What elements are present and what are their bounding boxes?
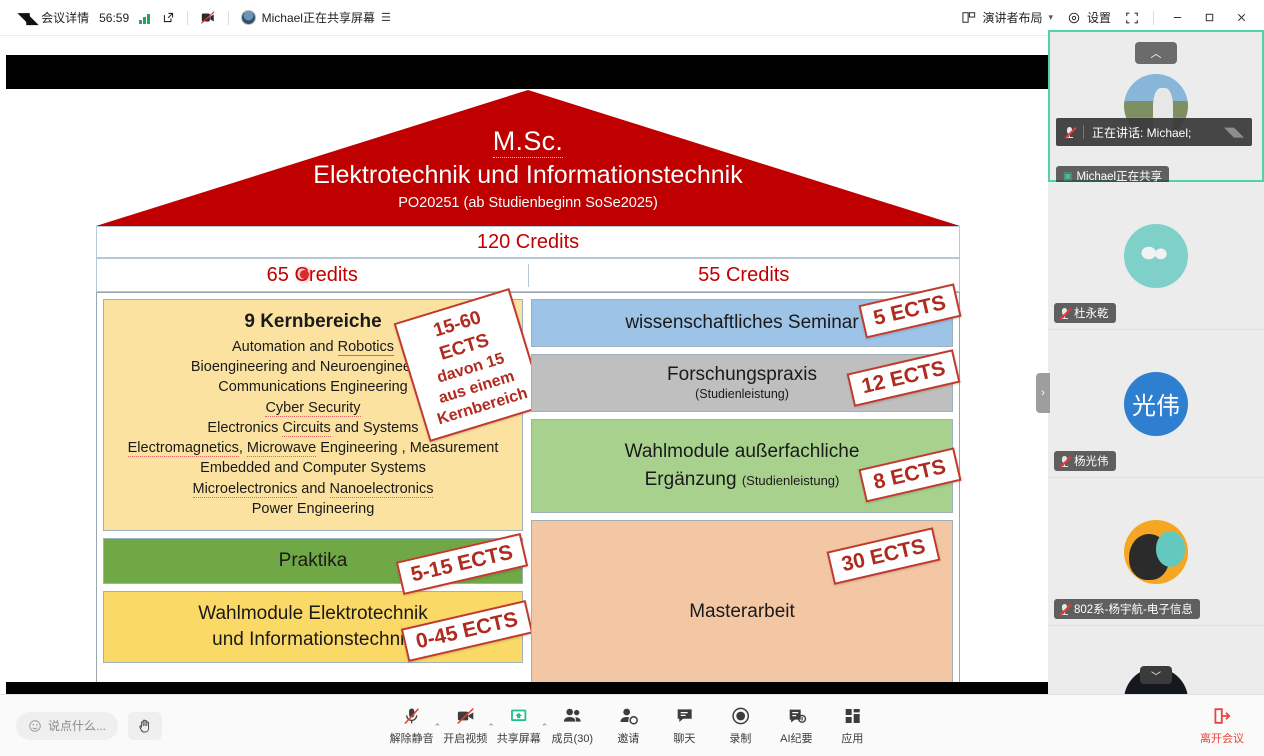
signal-bars-icon [139,12,150,24]
avatar [1124,520,1188,584]
ai-notes-button[interactable]: AI纪要 [768,702,824,749]
participant-name: 802系-杨宇航-电子信息 [1074,601,1193,617]
maximize-icon [1204,12,1215,23]
apps-button[interactable]: 应用 [824,702,880,749]
mic-muted-icon [1059,307,1070,320]
settings-label: 设置 [1087,9,1111,26]
maximize-button[interactable] [1194,5,1224,31]
layout-icon [962,11,976,24]
speaking-indicator: 正在讲话: Michael; ◥◣ [1056,118,1252,146]
chevron-up-icon[interactable]: ︿ [1135,42,1177,64]
participants-icon [561,705,583,727]
mic-muted-icon [1064,126,1075,139]
credits-split-band: 65 Credits 55 Credits [96,258,960,292]
camera-off-icon [455,705,475,727]
shared-screen-stage[interactable]: M.Sc. Elektrotechnik und Informationstec… [0,36,1048,694]
ai-notes-icon [786,705,806,727]
unmute-label: 解除静音 [390,730,434,746]
record-button[interactable]: 录制 [712,702,768,749]
slide-roof: M.Sc. Elektrotechnik und Informationstec… [96,90,960,230]
fullscreen-icon [1125,11,1139,25]
core-area-item: Electronics Circuits and Systems [207,418,418,438]
sharing-status-label: Michael正在共享屏幕 [262,9,375,26]
bottom-toolbar-center: 解除静音 ⌃ 开启视频 ⌃ [384,702,881,749]
ausserfachliche-line2-row: Ergänzung (Studienleistung) [645,466,840,494]
divider [187,11,188,25]
name-chip: 802系-杨宇航-电子信息 [1054,599,1200,619]
share-screen-button[interactable]: 共享屏幕 [491,702,547,749]
smiley-icon [28,719,42,733]
leave-meeting-button[interactable]: 离开会议 [1194,702,1250,749]
core-area-item: Automation and Robotics [232,337,394,357]
leave-icon [1212,705,1232,727]
meeting-window: ◥◣ 会议详情 56:59 [0,0,1264,756]
apps-label: 应用 [841,730,863,746]
divider [228,11,229,25]
title-bar-left: ◥◣ 会议详情 56:59 [0,5,397,31]
participants-label: 成员(30) [552,730,594,746]
popout-icon [162,11,175,24]
forschungspraxis-label: Forschungspraxis [667,364,817,387]
record-label: 录制 [729,730,751,746]
speaking-text: 正在讲话: Michael; [1092,124,1191,141]
right-credits-cell: 55 Credits [529,264,960,287]
layout-switcher-button[interactable]: 演讲者布局 ▾ [956,5,1059,31]
share-screen-icon [509,705,529,727]
ai-notes-label: AI纪要 [780,730,812,746]
core-areas-heading: 9 Kernbereiche [244,311,381,333]
core-area-item: Bioengineering and Neuroengineering [191,357,435,377]
participant-tile-yangguangwei[interactable]: 光伟 杨光伟 [1048,330,1264,478]
core-area-item: Power Engineering [252,499,375,519]
meeting-timer: 56:59 [99,11,129,25]
minimize-button[interactable] [1162,5,1192,31]
network-signal-button[interactable] [133,5,156,31]
masterarbeit-label: Masterarbeit [689,601,795,623]
ausserfachliche-line1: Wahlmodule außerfachliche [625,438,860,466]
praktika-label: Praktika [279,550,348,572]
seminar-label: wissenschaftliches Seminar [625,312,858,334]
left-credits-cell: 65 Credits [97,264,529,287]
participant-name: 杜永乾 [1074,305,1109,321]
core-area-item: Electromagnetics, Microwave Engineering … [128,438,499,458]
avatar-initials: 光伟 [1132,386,1180,421]
chat-button[interactable]: 聊天 [656,702,712,749]
core-area-item: Cyber Security [265,398,360,418]
participant-name: 杨光伟 [1074,453,1109,469]
mic-muted-icon [1059,455,1070,468]
ausserfachliche-line2: Ergänzung [645,469,737,490]
presentation-slide: M.Sc. Elektrotechnik und Informationstec… [96,90,960,694]
raise-hand-button[interactable] [128,712,162,740]
chevron-down-icon: ▾ [1048,12,1053,23]
rail-collapse-handle[interactable]: › [1036,373,1050,413]
record-icon [730,705,750,727]
avatar [1124,224,1188,288]
divider [1083,125,1084,139]
say-something-placeholder: 说点什么... [48,717,106,734]
shared-screen-letterbox-bottom [6,682,1048,694]
invite-label: 邀请 [617,730,639,746]
laser-pointer-dot [300,270,309,279]
regulation-label: PO20251 (ab Studienbeginn SoSe2025) [96,195,960,211]
start-video-button[interactable]: 开启视频 [437,702,493,749]
right-column: wissenschaftliches Seminar Forschungspra… [531,299,953,694]
ausserfachliche-sub: (Studienleistung) [742,473,840,488]
say-something-input[interactable]: 说点什么... [16,712,118,740]
meeting-details-button[interactable]: ◥◣ 会议详情 [12,5,95,31]
mic-muted-icon [402,705,422,727]
app-logo-watermark-icon: ◥◣ [1224,124,1244,140]
recording-blocked-icon [200,10,216,26]
wahlmodule-eti-line1: Wahlmodule Elektrotechnik [198,601,428,627]
forschungspraxis-sub: (Studienleistung) [695,387,789,402]
left-column: 9 Kernbereiche Automation and Robotics B… [103,299,523,694]
invite-icon [618,705,638,727]
meeting-details-label: 会议详情 [41,9,89,26]
leave-meeting-label: 离开会议 [1200,730,1244,746]
participant-tile-michael[interactable]: ︿ 正在讲话: Michael; ◥◣ ▣ Michael正在共享 [1048,30,1264,182]
minimize-icon [1172,12,1183,23]
gear-icon [1067,11,1081,25]
unmute-button[interactable]: 解除静音 [384,702,440,749]
participant-tile-yangyuhang[interactable]: 802系-杨宇航-电子信息 [1048,478,1264,626]
core-area-item: Microelectronics and Nanoelectronics [193,479,434,499]
more-lines-icon[interactable]: ☰ [381,11,391,24]
right-credits-label: 55 Credits [698,264,789,287]
bottom-toolbar-left: 说点什么... [0,712,162,740]
divider [1153,11,1154,25]
recording-blocked-button[interactable] [194,5,222,31]
fullscreen-button[interactable] [1119,5,1145,31]
start-video-label: 开启视频 [443,730,487,746]
wahlmodule-eti-line2: und Informationstechnik [212,627,414,653]
popout-button[interactable] [156,5,181,31]
rail-scroll-down-button[interactable]: ﹀ [1140,666,1172,684]
shared-screen-letterbox-top [6,55,1048,89]
roof-text-block: M.Sc. Elektrotechnik und Informationstec… [96,126,960,211]
sharing-user-avatar [241,10,256,25]
core-area-item: Communications Engineering [218,377,407,397]
close-icon [1236,12,1247,23]
layout-label: 演讲者布局 [982,9,1042,26]
name-chip: 杨光伟 [1054,451,1116,471]
slide-body-frame: 9 Kernbereiche Automation and Robotics B… [96,292,960,694]
name-chip: 杜永乾 [1054,303,1116,323]
core-area-item: Embedded and Computer Systems [200,458,426,478]
program-title: Elektrotechnik und Informationstechnik [96,160,960,191]
raise-hand-icon [137,718,153,734]
participant-tile-duyongqian[interactable]: 杜永乾 [1048,182,1264,330]
degree-label: M.Sc. [493,126,564,158]
app-logo-icon: ◥◣ [18,9,35,27]
participant-rail[interactable]: ︿ 正在讲话: Michael; ◥◣ ▣ Michael正在共享 [1048,30,1264,694]
bottom-toolbar: 说点什么... 解除静音 ⌃ [0,694,1264,756]
share-screen-label: 共享屏幕 [497,730,541,746]
chat-label: 聊天 [673,730,695,746]
participants-button[interactable]: 成员(30) [544,702,600,749]
close-button[interactable] [1226,5,1256,31]
chat-icon [674,705,694,727]
avatar: 光伟 [1124,372,1188,436]
total-credits-band: 120 Credits [96,226,960,258]
left-credits-label: 65 Credits [267,264,358,287]
apps-icon [842,705,862,727]
sharing-status[interactable]: Michael正在共享屏幕 ☰ [235,5,397,31]
invite-button[interactable]: 邀请 [600,702,656,749]
settings-button[interactable]: 设置 [1061,5,1117,31]
mic-muted-icon [1059,603,1070,616]
share-screen-icon: ▣ [1063,171,1072,182]
title-bar-right: 演讲者布局 ▾ 设置 [956,5,1264,31]
